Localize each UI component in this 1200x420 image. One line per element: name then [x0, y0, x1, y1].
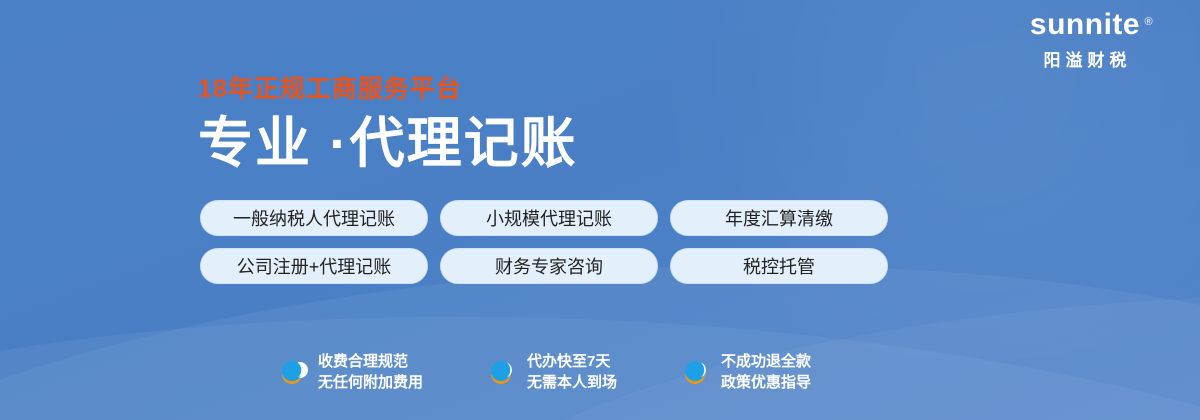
- service-pill-annual-settlement[interactable]: 年度汇算清缴: [670, 200, 888, 236]
- feature-strip: 收费合理规范 无任何附加费用 代办快至7天 无需本人到场: [276, 352, 811, 392]
- feature-line-1: 代办快至7天: [527, 352, 617, 371]
- service-pill-row-2: 公司注册+代理记账 财务专家咨询 税控托管: [200, 248, 888, 284]
- service-pill-small-scale[interactable]: 小规模代理记账: [440, 200, 658, 236]
- dual-circle-icon: [485, 356, 517, 388]
- feature-line-2: 政策优惠指导: [721, 373, 811, 392]
- feature-line-2: 无需本人到场: [527, 373, 617, 392]
- feature-line-2: 无任何附加费用: [318, 373, 423, 392]
- service-pill-company-registration[interactable]: 公司注册+代理记账: [200, 248, 428, 284]
- service-pill-general-taxpayer[interactable]: 一般纳税人代理记账: [200, 200, 428, 236]
- hero-eyebrow: 18年正规工商服务平台: [198, 74, 578, 104]
- feature-text-speed: 代办快至7天 无需本人到场: [527, 352, 617, 392]
- dual-circle-icon: [276, 356, 308, 388]
- hero-text-block: 18年正规工商服务平台 专业 ·代理记账: [198, 74, 578, 176]
- feature-item-refund: 不成功退全款 政策优惠指导: [679, 352, 811, 392]
- logo-wordmark-text: sunnite: [1030, 8, 1140, 41]
- service-pill-tax-control-custody[interactable]: 税控托管: [670, 248, 888, 284]
- service-pill-row-1: 一般纳税人代理记账 小规模代理记账 年度汇算清缴: [200, 200, 888, 236]
- registered-trademark-icon: ®: [1144, 5, 1153, 39]
- feature-item-speed: 代办快至7天 无需本人到场: [485, 352, 617, 392]
- brand-logo[interactable]: sunnite ® 阳溢财税: [990, 8, 1180, 71]
- feature-line-1: 不成功退全款: [721, 352, 811, 371]
- dual-circle-icon: [679, 356, 711, 388]
- feature-item-pricing: 收费合理规范 无任何附加费用: [276, 352, 423, 392]
- service-pill-group: 一般纳税人代理记账 小规模代理记账 年度汇算清缴 公司注册+代理记账 财务专家咨…: [200, 200, 888, 296]
- logo-wordmark: sunnite ®: [1030, 8, 1140, 42]
- hero-headline: 专业 ·代理记账: [198, 110, 578, 176]
- promo-banner: sunnite ® 阳溢财税 18年正规工商服务平台 专业 ·代理记账 一般纳税…: [0, 0, 1200, 420]
- logo-chinese-name: 阳溢财税: [990, 46, 1180, 71]
- service-pill-expert-consulting[interactable]: 财务专家咨询: [440, 248, 658, 284]
- feature-text-pricing: 收费合理规范 无任何附加费用: [318, 352, 423, 392]
- feature-text-refund: 不成功退全款 政策优惠指导: [721, 352, 811, 392]
- feature-line-1: 收费合理规范: [318, 352, 423, 371]
